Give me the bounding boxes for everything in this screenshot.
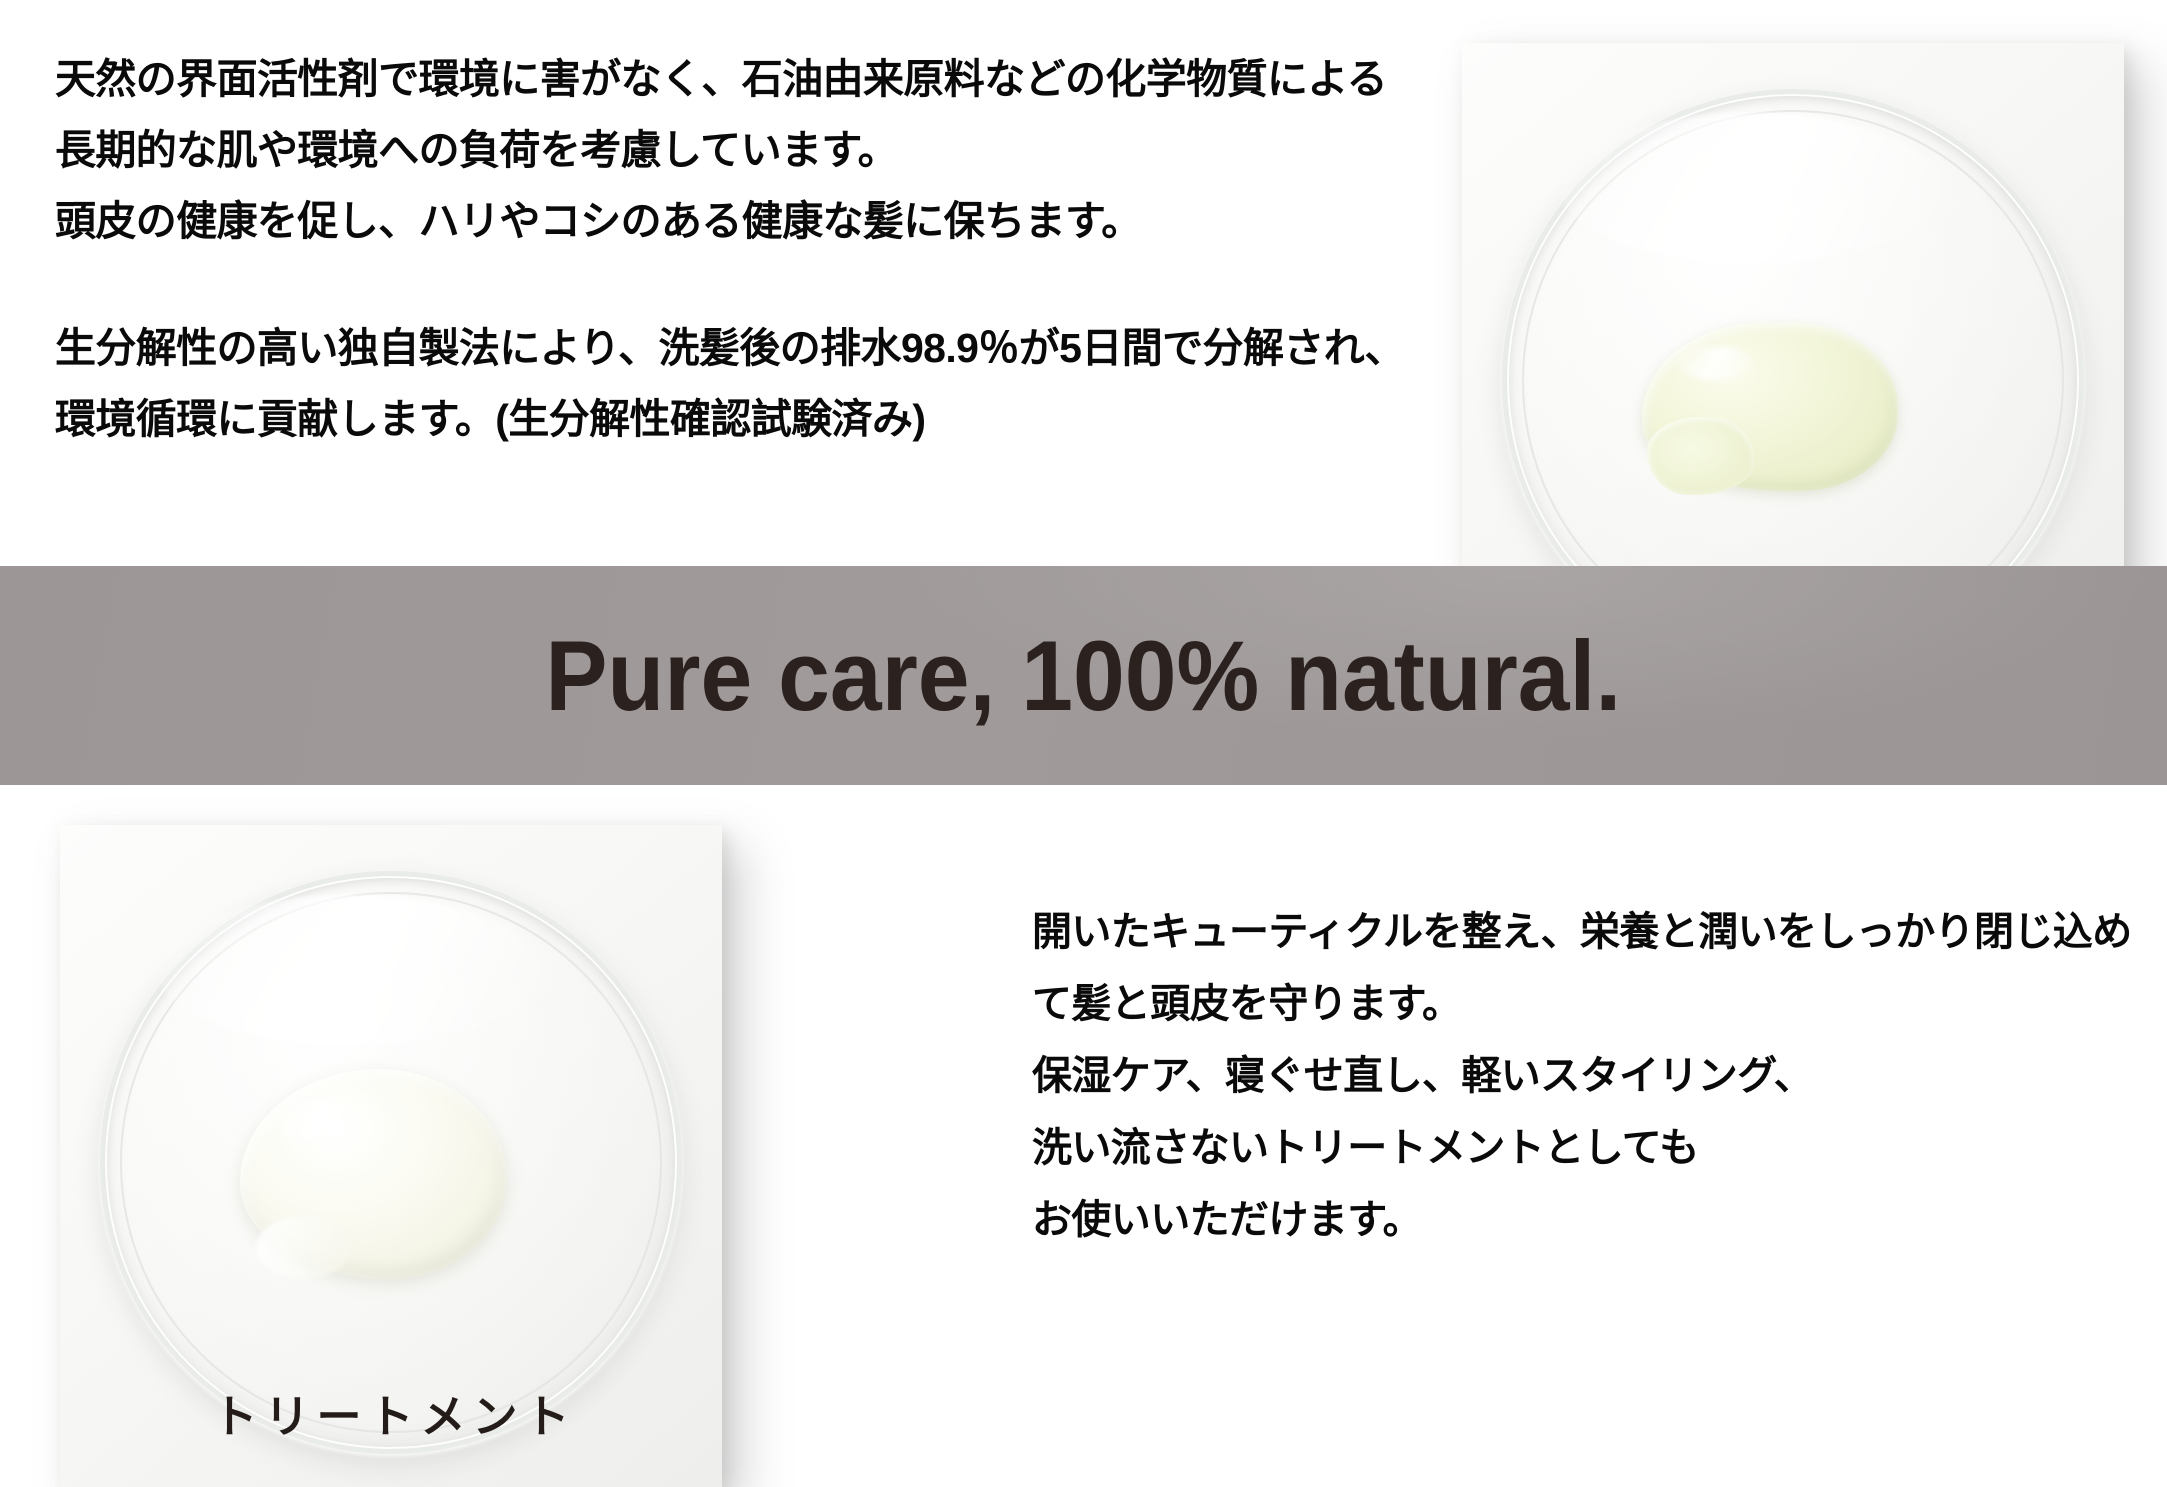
outro-line-2: て髪と頭皮を守ります。: [1032, 968, 2142, 1040]
top-section: 天然の界面活性剤で環境に害がなく、石油由来原料などの化学物質による 長期的な肌や…: [0, 0, 2167, 566]
treatment-product-photo: トリートメント: [60, 825, 722, 1487]
intro-line-2: 長期的な肌や環境への負荷を考慮しています。: [55, 115, 1415, 186]
outro-line-1: 開いたキューティクルを整え、栄養と潤いをしっかり閉じ込め: [1032, 896, 2142, 968]
outro-line-3: 保湿ケア、寝ぐせ直し、軽いスタイリング、: [1032, 1040, 2142, 1112]
shampoo-gel-blob: [1642, 322, 1898, 491]
petri-dish-highlight: [1560, 113, 1944, 264]
treatment-photo-label: トリートメント: [60, 1380, 722, 1445]
outro-line-5: お使いいただけます。: [1032, 1184, 2142, 1256]
intro-line-3: 頭皮の健康を促し、ハリやコシのある健康な髪に保ちます。: [55, 186, 1415, 257]
photo-card-background: トリートメント: [60, 825, 722, 1487]
intro-copy-block: 天然の界面活性剤で環境に害がなく、石油由来原料などの化学物質による 長期的な肌や…: [55, 44, 1415, 455]
shampoo-gel-highlight: [1677, 346, 1754, 380]
paragraph-spacer: [55, 257, 1415, 313]
intro-line-4: 生分解性の高い独自製法により、洗髪後の排水98.9％が5日間で分解され、: [55, 313, 1415, 384]
treatment-cream-highlight: [277, 1099, 357, 1141]
intro-line-5: 環境循環に貢献します。(生分解性確認試験済み): [55, 384, 1415, 455]
bottom-section: トリートメント 開いたキューティクルを整え、栄養と潤いをしっかり閉じ込め て髪と…: [0, 785, 2167, 1346]
petri-dish: [100, 871, 683, 1454]
outro-copy-block: 開いたキューティクルを整え、栄養と潤いをしっかり閉じ込め て髪と頭皮を守ります。…: [1032, 896, 2142, 1256]
petri-dish-highlight: [158, 895, 542, 1046]
pure-care-banner: Pure care, 100% natural.: [0, 566, 2167, 785]
banner-title: Pure care, 100% natural.: [546, 626, 1622, 725]
outro-line-4: 洗い流さないトリートメントとしても: [1032, 1112, 2142, 1184]
intro-line-1: 天然の界面活性剤で環境に害がなく、石油由来原料などの化学物質による: [55, 44, 1415, 115]
